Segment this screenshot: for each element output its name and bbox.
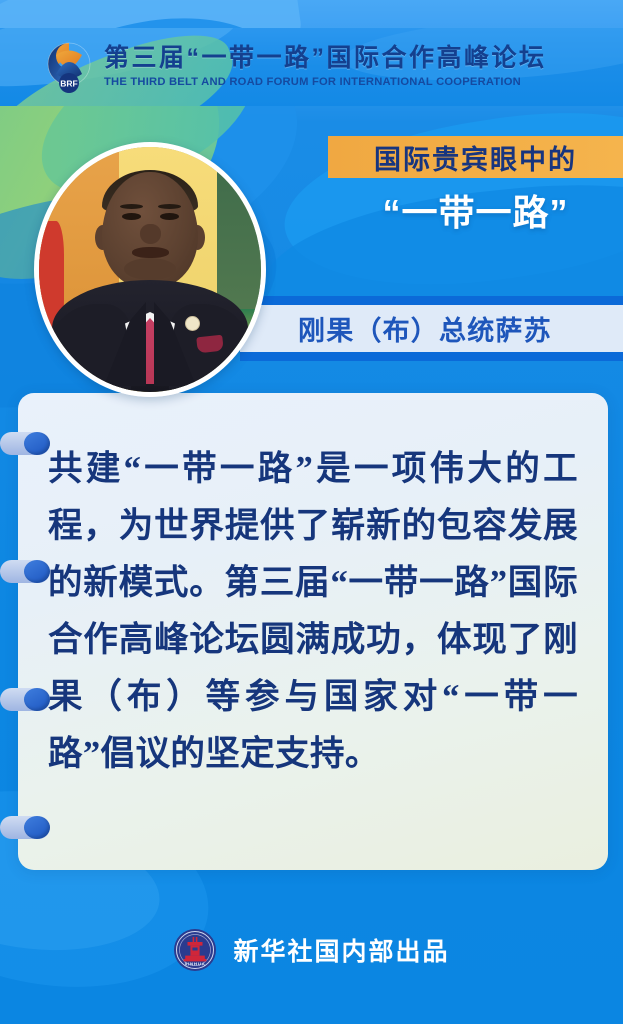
svg-text:XINHUA: XINHUA bbox=[185, 962, 206, 967]
portrait-brow-left bbox=[120, 204, 143, 209]
poster-root: BRF 第三届“一带一路”国际合作高峰论坛 THE THIRD BELT AND… bbox=[0, 0, 623, 1024]
orange-banner: 国际贵宾眼中的 bbox=[328, 136, 623, 178]
speaker-name-label: 刚果（布）总统萨苏 bbox=[298, 309, 552, 348]
speaker-name-band: 刚果（布）总统萨苏 bbox=[240, 305, 623, 352]
header-title-cn: 第三届“一带一路”国际合作高峰论坛 bbox=[104, 44, 547, 73]
binder-ring-1 bbox=[0, 432, 50, 455]
header-titles: 第三届“一带一路”国际合作高峰论坛 THE THIRD BELT AND ROA… bbox=[104, 44, 547, 89]
binder-ring-1-knob bbox=[24, 432, 50, 455]
portrait-mouth bbox=[132, 247, 169, 258]
name-band-bottom-rule bbox=[240, 352, 623, 361]
svg-text:BRF: BRF bbox=[60, 79, 77, 89]
footer: XINHUA 新华社国内部出品 bbox=[0, 928, 623, 972]
portrait-photo bbox=[34, 142, 266, 397]
binder-ring-3-knob bbox=[24, 688, 50, 711]
portrait-lapel-pin-icon bbox=[186, 317, 199, 330]
speaker-portrait bbox=[34, 142, 266, 397]
quote-card: 共建“一带一路”是一项伟大的工程，为世界提供了崭新的包容发展的新模式。第三届“一… bbox=[18, 393, 608, 870]
orange-banner-label: 国际贵宾眼中的 bbox=[374, 138, 577, 177]
header-title-en: THE THIRD BELT AND ROAD FORUM FOR INTERN… bbox=[104, 75, 547, 90]
binder-ring-4 bbox=[0, 816, 50, 839]
big-title-label: “一带一路” bbox=[382, 184, 568, 236]
quote-text: 共建“一带一路”是一项伟大的工程，为世界提供了崭新的包容发展的新模式。第三届“一… bbox=[48, 441, 578, 783]
portrait-nose bbox=[140, 224, 161, 244]
portrait-eye-right bbox=[160, 213, 179, 220]
portrait-eye-left bbox=[122, 213, 141, 220]
binder-ring-3 bbox=[0, 688, 50, 711]
portrait-chin bbox=[124, 258, 176, 280]
binder-ring-2 bbox=[0, 560, 50, 583]
portrait-brow-right bbox=[158, 204, 181, 209]
binder-ring-2-knob bbox=[24, 560, 50, 583]
brf-emblem-icon: BRF bbox=[40, 38, 98, 96]
forum-header-bar: BRF 第三届“一带一路”国际合作高峰论坛 THE THIRD BELT AND… bbox=[0, 28, 623, 106]
binder-ring-4-knob bbox=[24, 816, 50, 839]
footer-label: 新华社国内部出品 bbox=[233, 932, 449, 968]
name-band-top-rule bbox=[240, 296, 623, 305]
xinhua-emblem-icon: XINHUA bbox=[173, 928, 217, 972]
big-title: “一带一路” bbox=[328, 182, 623, 238]
